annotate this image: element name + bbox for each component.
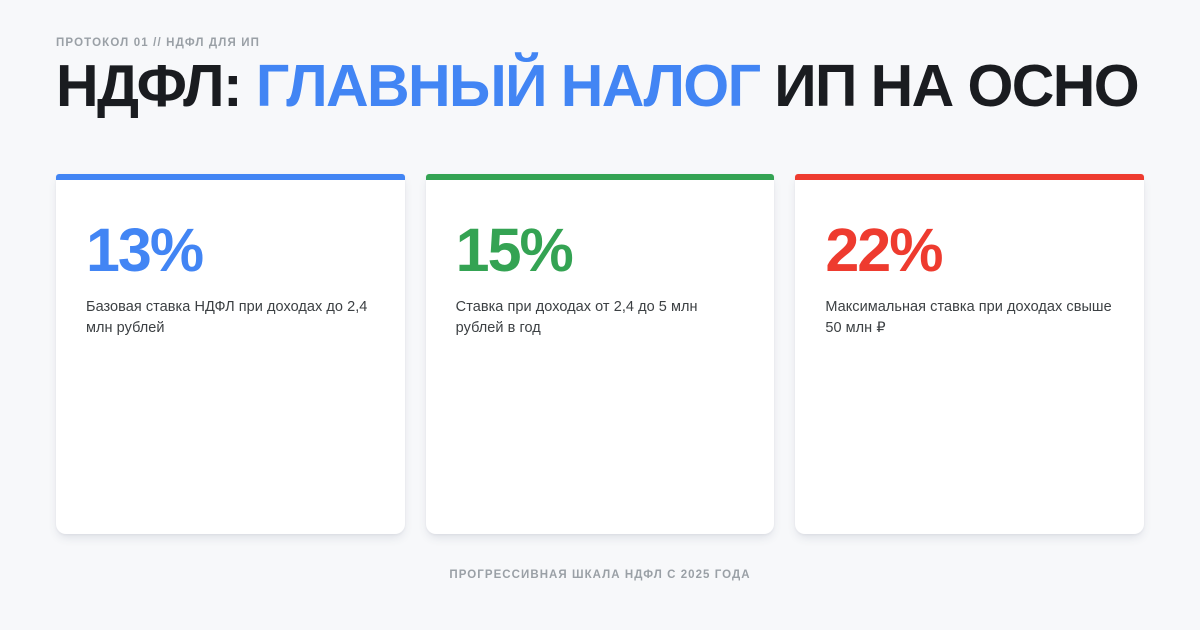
stat-description: Ставка при доходах от 2,4 до 5 млн рубле… (456, 297, 745, 340)
headline-part-two: ИП НА ОСНО (759, 53, 1138, 119)
headline-accent: ГЛАВНЫЙ НАЛОГ (256, 53, 760, 119)
stat-value: 22% (825, 220, 1114, 281)
card-accent-bar (56, 174, 405, 180)
kicker-label: ПРОТОКОЛ 01 // НДФЛ ДЛЯ ИП (56, 37, 260, 49)
headline-part-one: НДФЛ: (56, 53, 256, 119)
card-accent-bar (795, 174, 1144, 180)
page-title: НДФЛ: ГЛАВНЫЙ НАЛОГ ИП НА ОСНО (56, 56, 1146, 116)
stat-card[interactable]: 13% Базовая ставка НДФЛ при доходах до 2… (56, 174, 405, 534)
card-accent-bar (426, 174, 775, 180)
stat-card[interactable]: 22% Максимальная ставка при доходах свыш… (795, 174, 1144, 534)
stat-description: Базовая ставка НДФЛ при доходах до 2,4 м… (86, 297, 375, 340)
stat-card-list: 13% Базовая ставка НДФЛ при доходах до 2… (56, 174, 1144, 534)
stat-value: 13% (86, 220, 375, 281)
footer-caption: ПРОГРЕССИВНАЯ ШКАЛА НДФЛ С 2025 ГОДА (0, 569, 1200, 581)
slide-root: ПРОТОКОЛ 01 // НДФЛ ДЛЯ ИП НДФЛ: ГЛАВНЫЙ… (0, 0, 1200, 630)
stat-value: 15% (456, 220, 745, 281)
stat-card[interactable]: 15% Ставка при доходах от 2,4 до 5 млн р… (426, 174, 775, 534)
stat-description: Максимальная ставка при доходах свыше 50… (825, 297, 1114, 340)
